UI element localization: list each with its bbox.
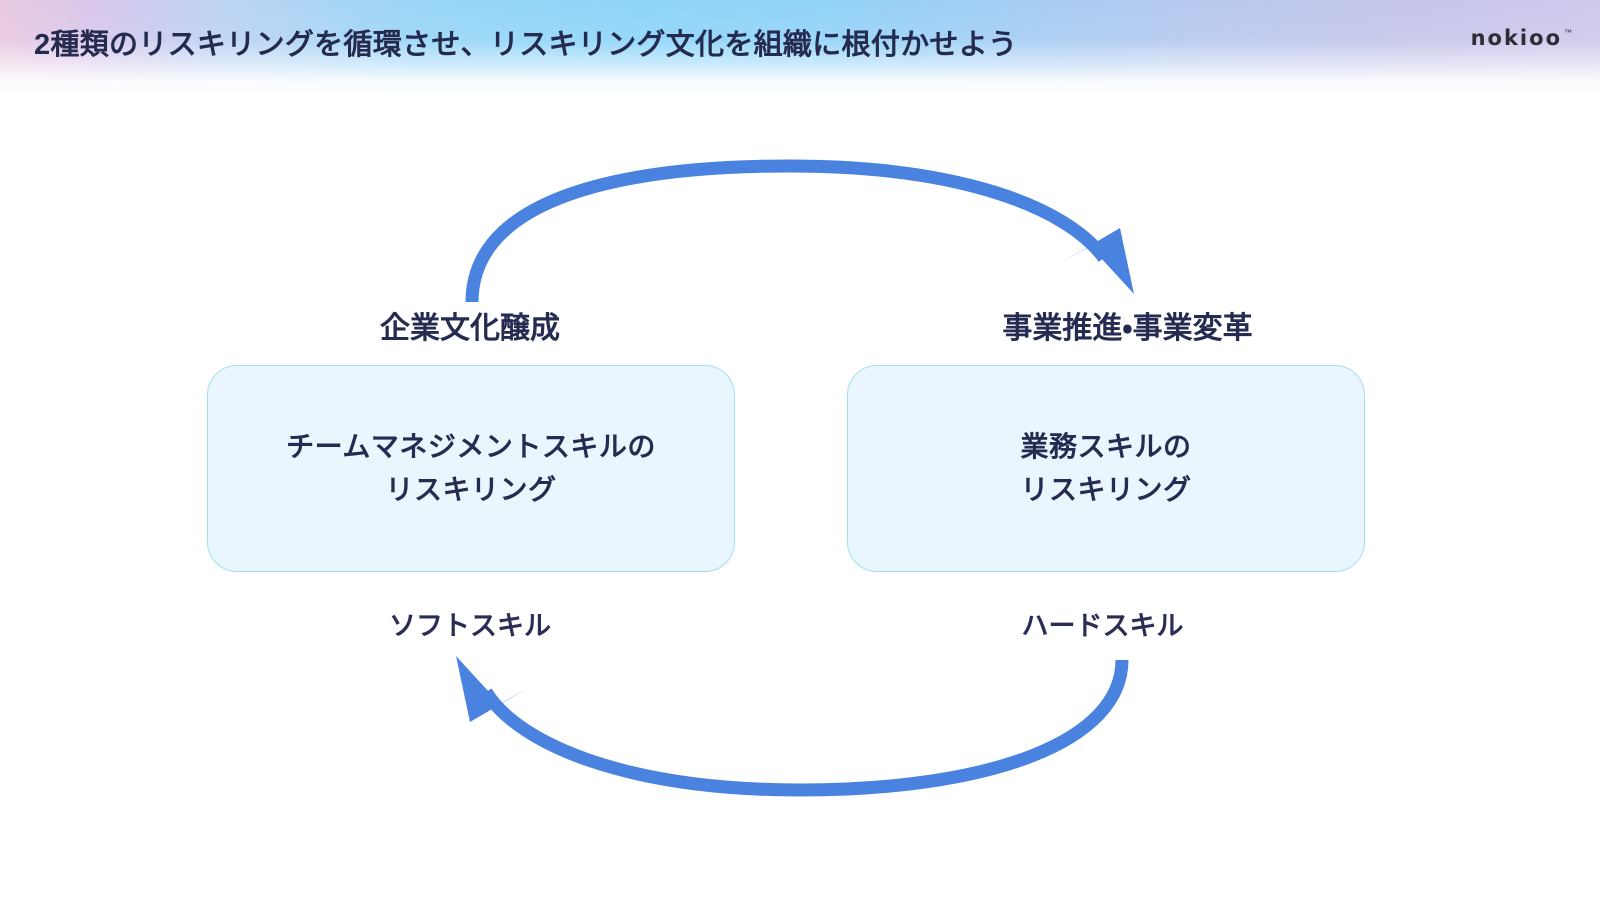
hard-to-soft-arrow — [456, 656, 1122, 790]
brand-logo: nokioo ™ — [1471, 28, 1572, 49]
slide-canvas: 2種類のリスキリングを循環させ、リスキリング文化を組織に根付かせよう nokio… — [0, 0, 1600, 900]
footer-label-hard: ハードスキル — [880, 604, 1325, 643]
skill-box-soft-label: チームマネジメントスキルの リスキリング — [286, 426, 656, 511]
brand-wordmark: nokioo — [1471, 28, 1562, 49]
skill-box-hard-label: 業務スキルの リスキリング — [1020, 426, 1191, 511]
footer-label-soft: ソフトスキル — [255, 604, 685, 643]
skill-box-soft: チームマネジメントスキルの リスキリング — [207, 365, 735, 572]
column-heading-hard: 事業推進・事業変革 — [890, 303, 1365, 347]
trademark-icon: ™ — [1564, 29, 1572, 37]
page-title: 2種類のリスキリングを循環させ、リスキリング文化を組織に根付かせよう — [34, 27, 1017, 65]
skill-box-hard: 業務スキルの リスキリング — [847, 365, 1365, 572]
column-heading-soft: 企業文化醸成 — [255, 303, 685, 347]
soft-to-hard-arrow — [472, 166, 1134, 302]
